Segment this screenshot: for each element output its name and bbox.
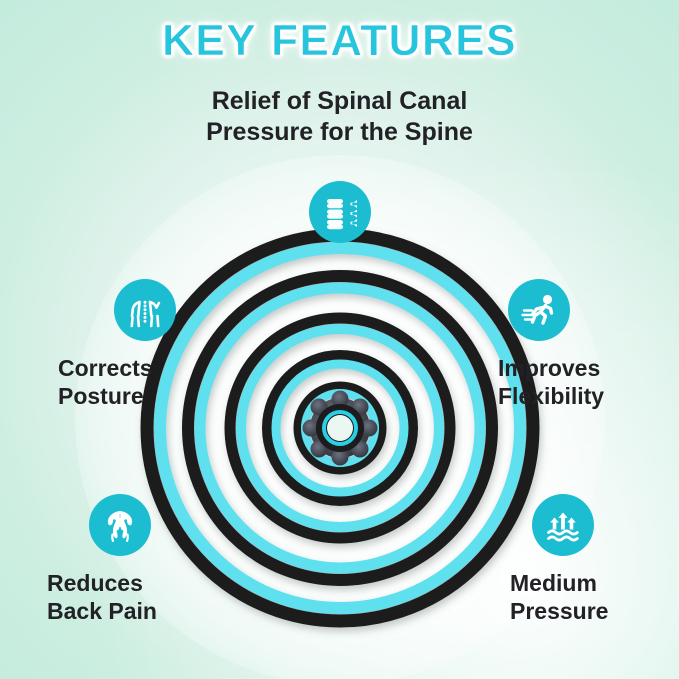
feature-improves-flexibility-label: Improves Flexibility [498,355,604,410]
feature-medium-pressure-label: Medium Pressure [510,570,608,625]
running-person-icon [508,279,570,341]
page-title-word-1: KEY [162,16,257,65]
feature-reduces-back-pain-label: Reduces Back Pain [47,570,157,625]
page-subtitle: Relief of Spinal Canal Pressure for the … [0,86,679,149]
feature-reduces-back-pain[interactable]: Reduces Back Pain [47,494,157,625]
product-image-spiral-coil [130,218,550,638]
feature-spine-relief[interactable] [309,181,371,243]
header: KEYFEATURES Relief of Spinal Canal Press… [0,0,679,149]
feature-corrects-posture-label: Corrects Posture [58,355,153,410]
spine-arrows-icon [309,181,371,243]
posture-back-icon [114,279,176,341]
page-title-word-2: FEATURES [271,16,517,65]
page-subtitle-line-2: Pressure for the Spine [0,117,679,148]
page-title: KEYFEATURES [0,0,679,66]
feature-corrects-posture[interactable]: Corrects Posture [58,279,176,410]
back-muscles-icon [89,494,151,556]
feature-improves-flexibility[interactable]: Improves Flexibility [498,279,604,410]
page-subtitle-line-1: Relief of Spinal Canal [0,86,679,117]
feature-medium-pressure[interactable]: Medium Pressure [510,494,608,625]
pressure-waves-icon [532,494,594,556]
